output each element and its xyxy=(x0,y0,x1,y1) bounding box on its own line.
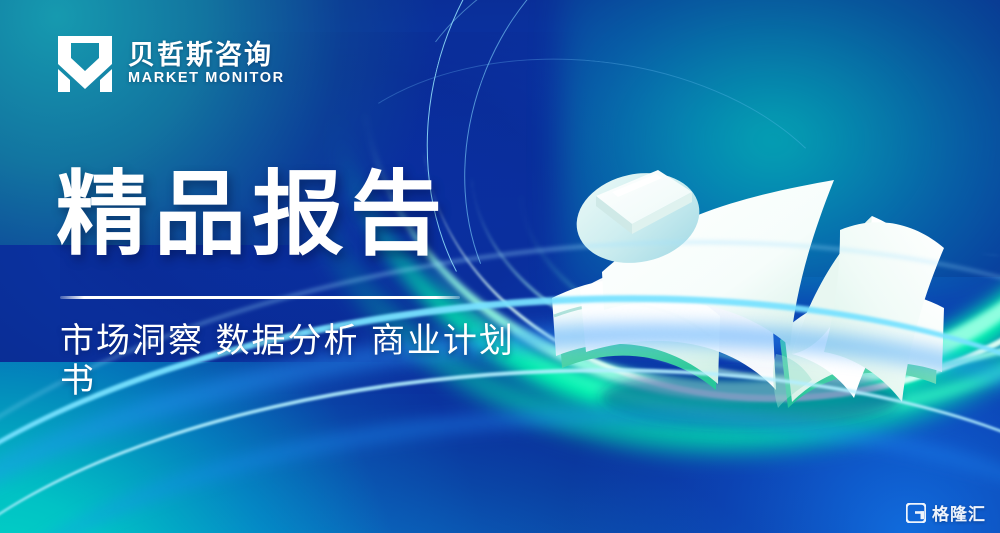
report-banner: 贝哲斯咨询 MARKET MONITOR 精品报告 市场洞察 数据分析 商业计划… xyxy=(0,0,1000,533)
headline-block: 精品报告 市场洞察 数据分析 商业计划书 xyxy=(56,168,526,402)
headline-divider xyxy=(60,296,460,299)
gelonghui-g-logo-icon xyxy=(906,503,926,523)
market-monitor-m-logo-icon xyxy=(58,36,112,92)
brand-name-cn: 贝哲斯咨询 xyxy=(128,41,285,69)
brand-logo: 贝哲斯咨询 MARKET MONITOR xyxy=(58,36,285,92)
watermark: 格隆汇 xyxy=(906,500,986,525)
watermark-text: 格隆汇 xyxy=(932,500,986,525)
page-subtitle: 市场洞察 数据分析 商业计划书 xyxy=(60,321,526,403)
brand-logo-text: 贝哲斯咨询 MARKET MONITOR xyxy=(128,41,285,87)
brand-name-en: MARKET MONITOR xyxy=(128,71,285,87)
page-title: 精品报告 xyxy=(56,168,526,264)
